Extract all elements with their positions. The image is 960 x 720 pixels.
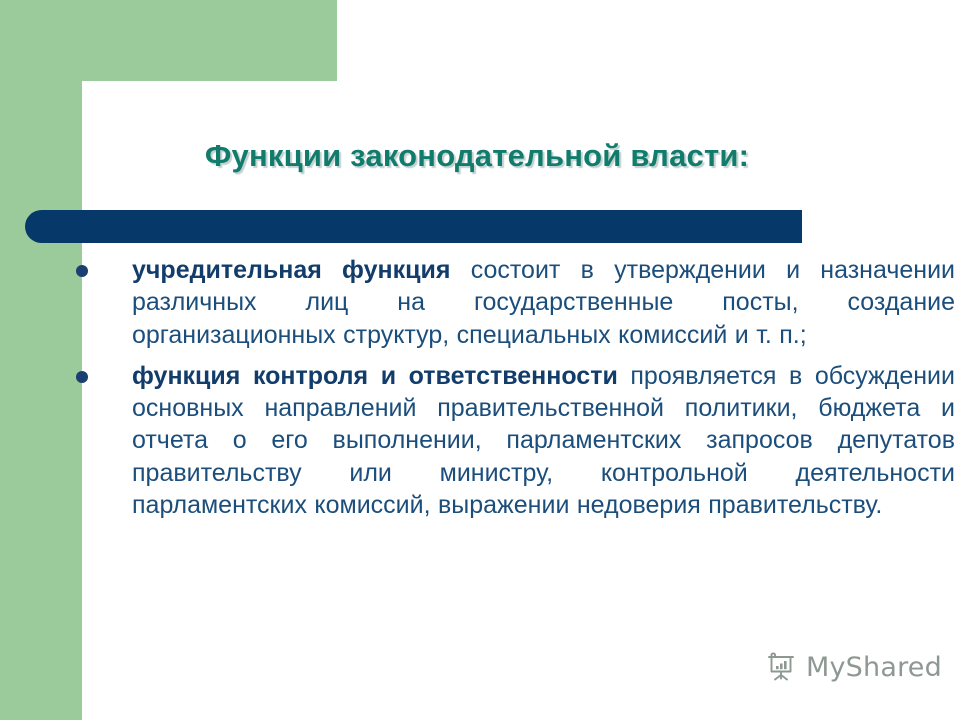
watermark-label: MyShared (806, 652, 942, 683)
slide-canvas: Функции законодательной власти: учредите… (0, 0, 960, 720)
bullet-lead-term: учредительная функция (132, 256, 450, 284)
presentation-board-icon (764, 650, 798, 684)
bullet-dot-icon (76, 371, 88, 383)
myshared-watermark: MyShared (764, 650, 942, 684)
bullet-list: учредительная функция состоит в утвержде… (70, 254, 955, 530)
green-top-block-decoration (0, 0, 337, 81)
slide-title: Функции законодательной власти: (82, 138, 872, 174)
list-item: функция контроля и ответственности прояв… (70, 360, 955, 521)
bullet-text: учредительная функция состоит в утвержде… (132, 254, 955, 351)
bullet-text: функция контроля и ответственности прояв… (132, 360, 955, 521)
bullet-dot-icon (76, 265, 88, 277)
bullet-lead-term: функция контроля и ответственности (132, 362, 618, 390)
list-item: учредительная функция состоит в утвержде… (70, 254, 955, 351)
title-underline-bar (25, 210, 802, 243)
